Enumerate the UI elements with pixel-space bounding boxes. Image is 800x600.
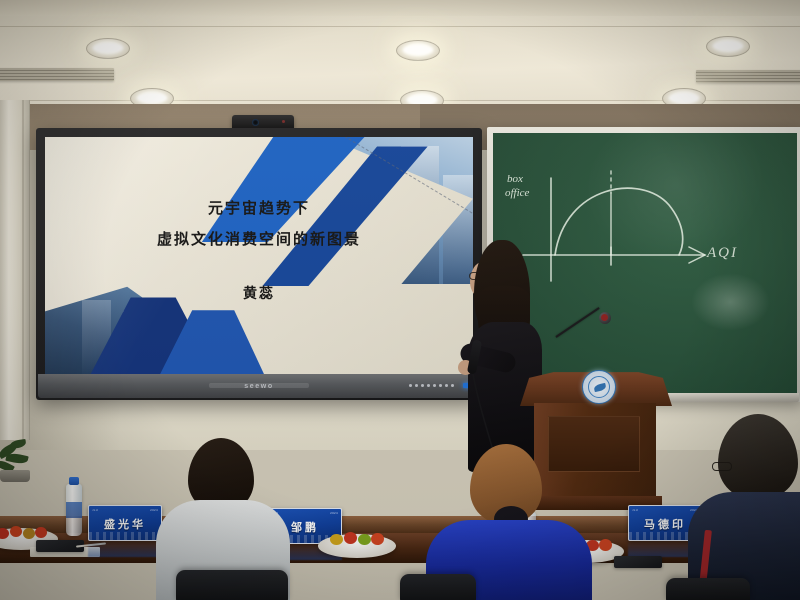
ceiling-downlight-icon bbox=[706, 36, 750, 57]
ceiling-downlight-icon bbox=[396, 40, 440, 61]
panel-indicator-dots bbox=[409, 384, 454, 387]
fruit-item bbox=[23, 528, 35, 539]
air-vent bbox=[0, 68, 114, 81]
conference-camera-icon bbox=[232, 115, 294, 129]
tablet[interactable] bbox=[614, 556, 662, 568]
chalk-label-y-line2: office bbox=[505, 187, 529, 199]
chalk-label-x-axis: AQI bbox=[707, 245, 738, 262]
nameplate-name: 盛光华 bbox=[89, 516, 161, 532]
fruit-item bbox=[344, 532, 357, 544]
attendee-navy-polo bbox=[700, 414, 800, 600]
slide-author-name: 黄蕊 bbox=[45, 283, 473, 303]
chair-back bbox=[400, 574, 476, 600]
column-edge bbox=[22, 100, 24, 440]
ceiling bbox=[0, 0, 800, 112]
presentation-slide: 元宇宙趋势下 虚拟文化消费空间的新图景 黄蕊 bbox=[45, 137, 473, 374]
wall-column bbox=[0, 100, 30, 440]
fruit-item bbox=[35, 527, 47, 538]
interactive-flat-panel[interactable]: 元宇宙趋势下 虚拟文化消费空间的新图景 黄蕊 seewo bbox=[36, 128, 482, 400]
chair-back bbox=[176, 570, 288, 600]
nameplate-reflection bbox=[88, 541, 162, 557]
fruit-item bbox=[330, 534, 343, 545]
lecture-room-scene: 元宇宙趋势下 虚拟文化消费空间的新图景 黄蕊 seewo bbox=[0, 0, 800, 600]
glasses-icon bbox=[712, 462, 732, 471]
chalk-label-y-line1: box bbox=[507, 173, 523, 185]
fruit-item bbox=[599, 539, 612, 551]
gooseneck-microphone-icon[interactable] bbox=[556, 318, 600, 378]
panel-chin-bar: seewo bbox=[38, 374, 480, 398]
air-vent bbox=[696, 70, 800, 83]
fruit-item bbox=[10, 526, 22, 537]
chair-back bbox=[666, 578, 750, 600]
fruit-item bbox=[358, 534, 371, 545]
panel-screen[interactable]: 元宇宙趋势下 虚拟文化消费空间的新图景 黄蕊 bbox=[45, 137, 473, 374]
slide-text-block: 元宇宙趋势下 虚拟文化消费空间的新图景 黄蕊 bbox=[45, 201, 473, 304]
ceiling-downlight-icon bbox=[86, 38, 130, 59]
potted-plant bbox=[0, 436, 40, 482]
fruit-item bbox=[371, 533, 384, 545]
water-bottle[interactable] bbox=[66, 484, 82, 536]
nameplate-1: JLU2024 盛光华 bbox=[88, 505, 162, 541]
slide-title-line2: 虚拟文化消费空间的新图景 bbox=[45, 228, 473, 249]
ceiling-seam bbox=[0, 26, 800, 27]
slide-title-line1: 元宇宙趋势下 bbox=[45, 201, 473, 218]
ceiling-step bbox=[0, 0, 800, 16]
panel-brand-label: seewo bbox=[244, 383, 273, 390]
